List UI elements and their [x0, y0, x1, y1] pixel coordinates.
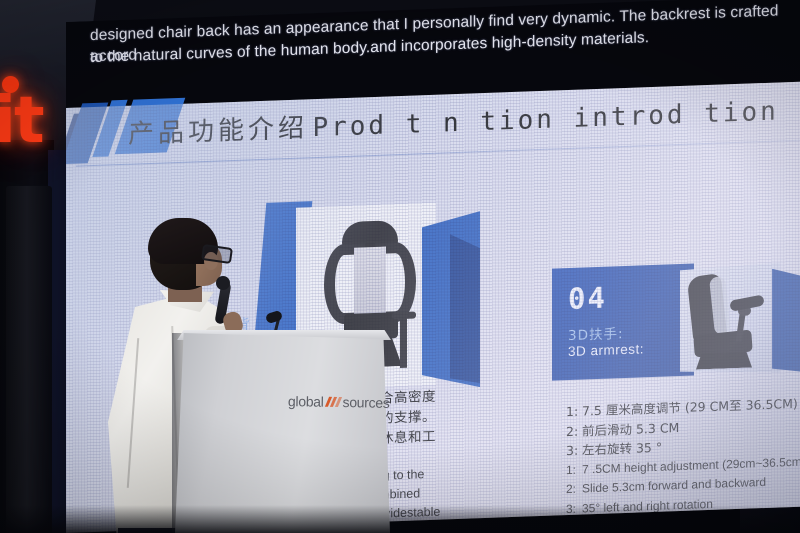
armrest-chair-photo	[680, 262, 800, 376]
panel-label-en: 3D armrest:	[568, 341, 644, 359]
slide-title-cn: 产品功能介绍	[128, 113, 308, 149]
bullet-cn-2-text: 前后滑动 5.3 CM	[582, 420, 679, 438]
podium-brand-logo: global sources	[288, 392, 392, 412]
slide-title-en: Prod t n tion introd tion	[312, 96, 778, 143]
logo-text-global: global	[288, 393, 324, 410]
venue-neon-sign: it	[0, 84, 43, 158]
bullet-cn-2-index: 2:	[566, 421, 582, 441]
panel-label-cn: 3D扶手:	[568, 322, 624, 344]
microphone-head-icon	[216, 276, 230, 290]
podium	[175, 333, 390, 533]
bullet-cn-3-text: 左右旋转 35 °	[582, 440, 662, 458]
feature-bullets: 1:7.5 厘米高度调节 (29 CM至 36.5CM) 2:前后滑动 5.3 …	[566, 393, 800, 519]
floor-shadow	[0, 505, 800, 533]
bullet-en-2-index: 2:	[566, 480, 582, 500]
photo-blue-right-bar-2	[450, 233, 480, 384]
bullet-cn-3-index: 3:	[566, 441, 582, 461]
chevrons-icon	[326, 397, 339, 407]
bullet-en-2-text: Slide 5.3cm forward and backward	[582, 475, 766, 496]
panel-number: 04	[568, 281, 607, 316]
black-post	[6, 186, 52, 533]
logo-text-sources: sources	[342, 394, 389, 411]
bullet-cn-1-index: 1:	[566, 402, 582, 422]
conference-stage-photo: it designed chair back has an appearance…	[0, 0, 800, 533]
panel-blue-box: 04 3D扶手: 3D armrest:	[552, 264, 694, 381]
bullet-en-1-index: 1:	[566, 460, 582, 480]
